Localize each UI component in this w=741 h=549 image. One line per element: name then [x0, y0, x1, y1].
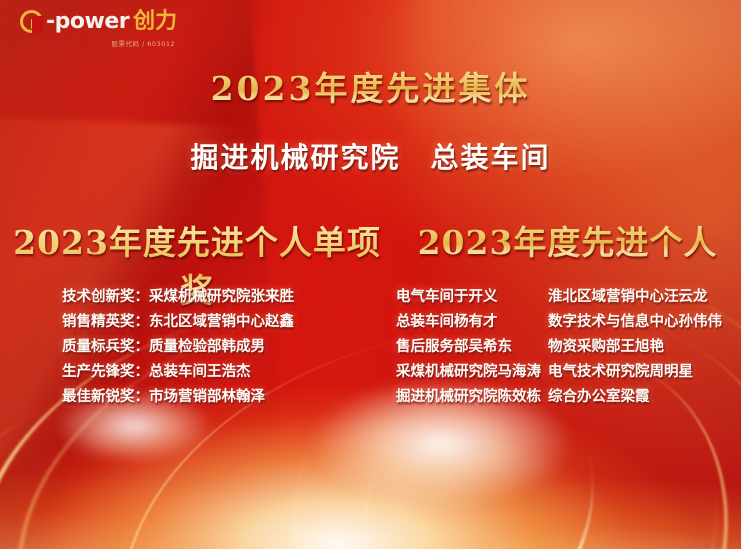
list-item: 总装车间杨有才 — [396, 309, 548, 334]
advanced-individual-grid: 电气车间于开义 淮北区域营销中心汪云龙 总装车间杨有才 数字技术与信息中心孙伟伟… — [396, 284, 741, 409]
logo-name-cn: 创力 — [133, 11, 177, 33]
list-item: 电气车间于开义 — [396, 284, 548, 309]
brand-logo: -power 创力 股票代码 / 603012 — [20, 10, 177, 48]
stock-code-label: 股票代码 / 603012 — [20, 38, 175, 48]
list-item: 掘进机械研究院陈效栋 — [396, 384, 548, 409]
award-lists: 技术创新奖：采煤机械研究院张来胜 销售精英奖：东北区域营销中心赵鑫 质量标兵奖：… — [0, 284, 741, 409]
list-item: 电气技术研究院周明星 — [548, 359, 741, 384]
list-item: 售后服务部吴希东 — [396, 334, 548, 359]
logo-row: -power 创力 — [20, 10, 177, 33]
award-poster: -power 创力 股票代码 / 603012 2023年度先进集体 掘进机械研… — [0, 0, 741, 549]
section-heading-advanced-individual: 2023年度先进个人 — [394, 216, 741, 264]
list-item: 物资采购部王旭艳 — [548, 334, 741, 359]
list-item: 最佳新锐奖：市场营销部林翰泽 — [62, 384, 390, 409]
single-award-list: 技术创新奖：采煤机械研究院张来胜 销售精英奖：东北区域营销中心赵鑫 质量标兵奖：… — [0, 284, 390, 409]
list-item: 综合办公室梁霞 — [548, 384, 741, 409]
page-subtitle: 掘进机械研究院 总装车间 — [0, 136, 741, 176]
list-item: 技术创新奖：采煤机械研究院张来胜 — [62, 284, 390, 309]
page-title: 2023年度先进集体 — [0, 62, 741, 110]
list-item: 质量标兵奖：质量检验部韩成男 — [62, 334, 390, 359]
list-item: 采煤机械研究院马海涛 — [396, 359, 548, 384]
list-item: 生产先锋奖：总装车间王浩杰 — [62, 359, 390, 384]
list-item: 销售精英奖：东北区域营销中心赵鑫 — [62, 309, 390, 334]
list-item: 淮北区域营销中心汪云龙 — [548, 284, 741, 309]
advanced-individual-list: 电气车间于开义 淮北区域营销中心汪云龙 总装车间杨有才 数字技术与信息中心孙伟伟… — [390, 284, 741, 409]
list-item: 数字技术与信息中心孙伟伟 — [548, 309, 741, 334]
c-power-circle-arrow-logo-icon — [20, 10, 43, 33]
logo-name-en: -power — [46, 11, 129, 33]
